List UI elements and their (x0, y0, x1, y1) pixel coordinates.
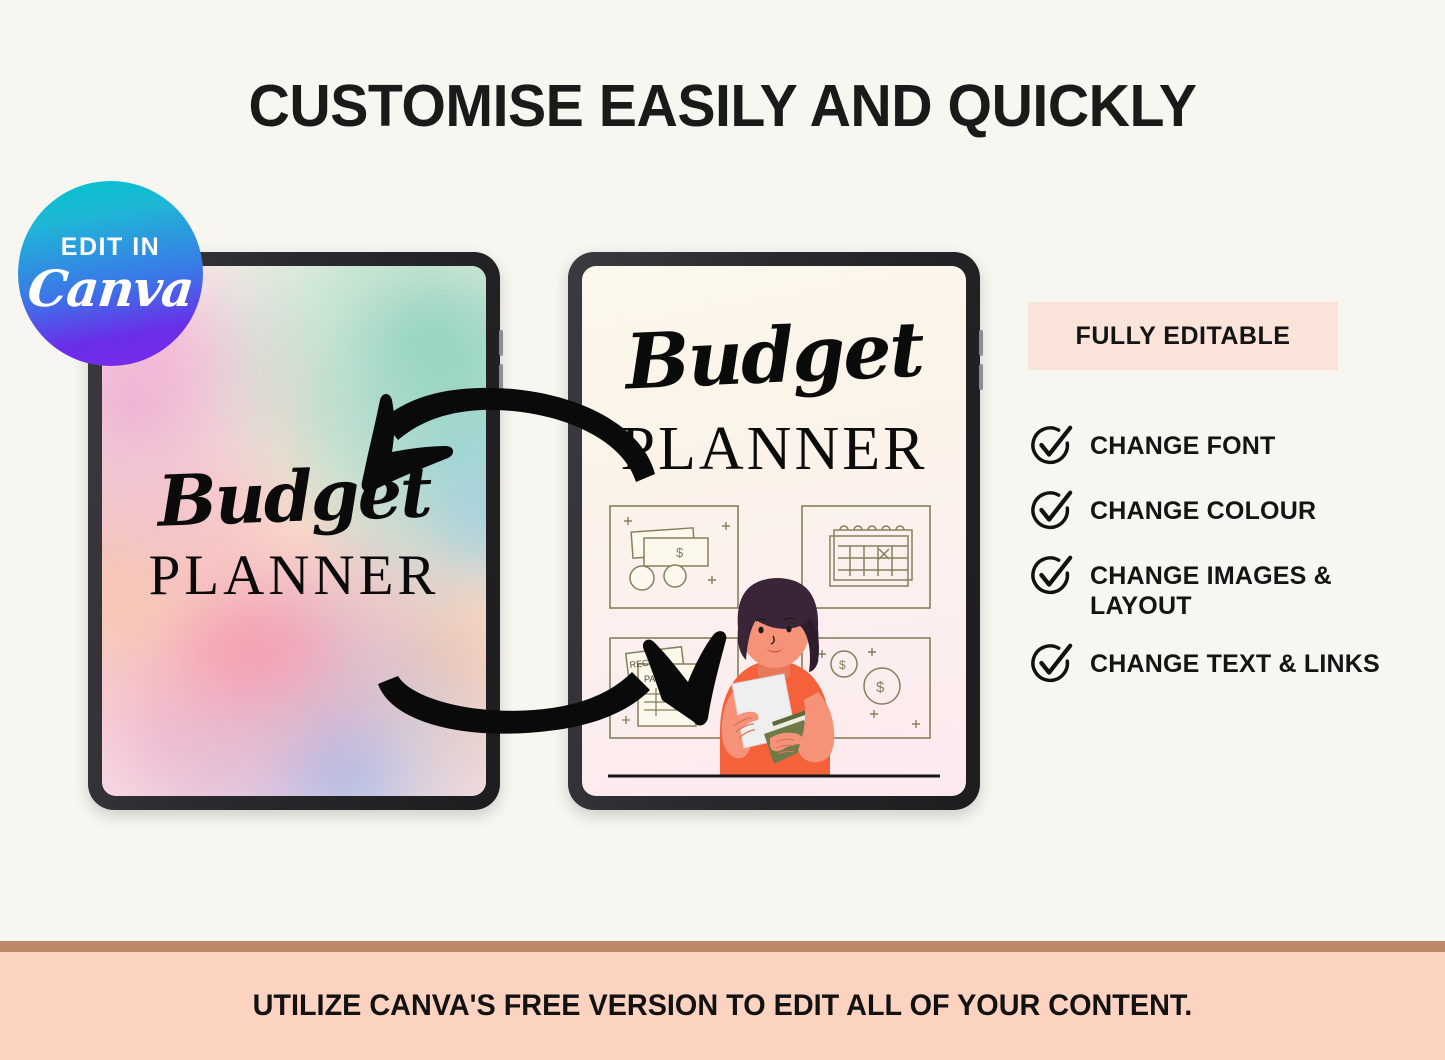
feature-item-change-text-links: CHANGE TEXT & LINKS (1028, 643, 1388, 686)
volume-down-button-right[interactable] (979, 364, 983, 390)
volume-up-button-left[interactable] (499, 330, 503, 356)
bottom-banner: UTILIZE CANVA'S FREE VERSION TO EDIT ALL… (0, 941, 1445, 1060)
feature-label: CHANGE IMAGES & LAYOUT (1090, 555, 1388, 621)
fully-editable-label: FULLY EDITABLE (1076, 322, 1291, 351)
box-calendar (802, 506, 930, 608)
cover-script-title-left: Budget (102, 455, 486, 538)
canva-badge-wordmark: Canva (25, 264, 195, 314)
check-circle-icon (1028, 422, 1074, 468)
svg-text:$: $ (676, 545, 684, 560)
feature-label: CHANGE FONT (1090, 425, 1276, 461)
svg-text:$: $ (839, 658, 846, 672)
canva-badge[interactable]: EDIT IN Canva (18, 181, 203, 366)
svg-text:PAYSLIP: PAYSLIP (644, 674, 680, 684)
volume-up-button-right[interactable] (979, 330, 983, 356)
cover-serif-title-left: PLANNER (102, 547, 486, 604)
tablet-screen-right[interactable]: Budget PLANNER $ (582, 266, 966, 796)
feature-label: CHANGE COLOUR (1090, 490, 1316, 526)
feature-label: CHANGE TEXT & LINKS (1090, 643, 1380, 679)
check-circle-icon (1028, 552, 1074, 598)
canva-badge-edit-in-label: EDIT IN (61, 233, 160, 262)
feature-item-change-images-layout: CHANGE IMAGES & LAYOUT (1028, 555, 1388, 621)
check-circle-icon (1028, 487, 1074, 533)
bottom-banner-text: UTILIZE CANVA'S FREE VERSION TO EDIT ALL… (253, 989, 1193, 1023)
illustration-woman-with-payslip: $ (582, 488, 966, 796)
page-title: CUSTOMISE EASILY AND QUICKLY (22, 72, 1424, 140)
cover-script-title-right: Budget (582, 310, 966, 403)
feature-item-change-colour: CHANGE COLOUR (1028, 490, 1388, 533)
volume-down-button-left[interactable] (499, 364, 503, 390)
feature-list: CHANGE FONT CHANGE COLOUR CHANGE IMAGES … (1028, 425, 1388, 708)
feature-item-change-font: CHANGE FONT (1028, 425, 1388, 468)
cover-serif-title-right: PLANNER (582, 418, 966, 480)
fully-editable-badge: FULLY EDITABLE (1028, 302, 1338, 370)
svg-text:$: $ (876, 679, 885, 696)
check-circle-icon (1028, 640, 1074, 686)
tablet-device-right[interactable]: Budget PLANNER $ (568, 252, 980, 810)
